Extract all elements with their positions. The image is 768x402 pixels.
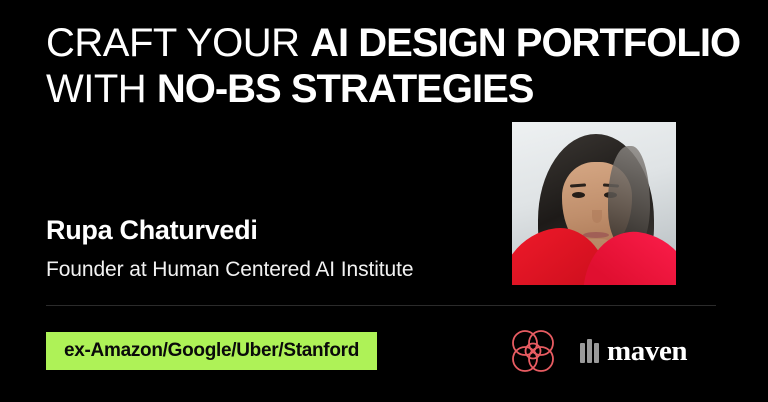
headline-line-1: CRAFT YOUR AI DESIGN PORTFOLIO [46,20,746,66]
speaker-block: Rupa Chaturvedi Founder at Human Centere… [46,213,496,283]
photo-nose [592,210,602,223]
headline-line-2: WITH NO-BS STRATEGIES [46,66,746,112]
headline-line-1-light: CRAFT YOUR [46,21,310,65]
logo-group: maven [508,326,687,376]
headline-line-1-bold: AI DESIGN PORTFOLIO [310,21,740,65]
speaker-title: Founder at Human Centered AI Institute [46,257,496,283]
headline-line-2-bold: NO-BS STRATEGIES [157,67,534,111]
speaker-name: Rupa Chaturvedi [46,213,496,247]
maven-bars-icon [580,339,599,363]
photo-eye-left [572,192,585,198]
speaker-photo [512,122,676,285]
promo-poster: CRAFT YOUR AI DESIGN PORTFOLIO WITH NO-B… [0,0,768,402]
maven-wordmark: maven [607,337,687,366]
credentials-badge: ex-Amazon/Google/Uber/Stanford [46,332,377,370]
headline-line-2-light: WITH [46,67,157,111]
divider [46,305,716,306]
maven-logo: maven [580,337,687,366]
rosette-logo-icon [508,326,558,376]
credentials-badge-label: ex-Amazon/Google/Uber/Stanford [64,340,359,362]
headline: CRAFT YOUR AI DESIGN PORTFOLIO WITH NO-B… [46,20,746,112]
